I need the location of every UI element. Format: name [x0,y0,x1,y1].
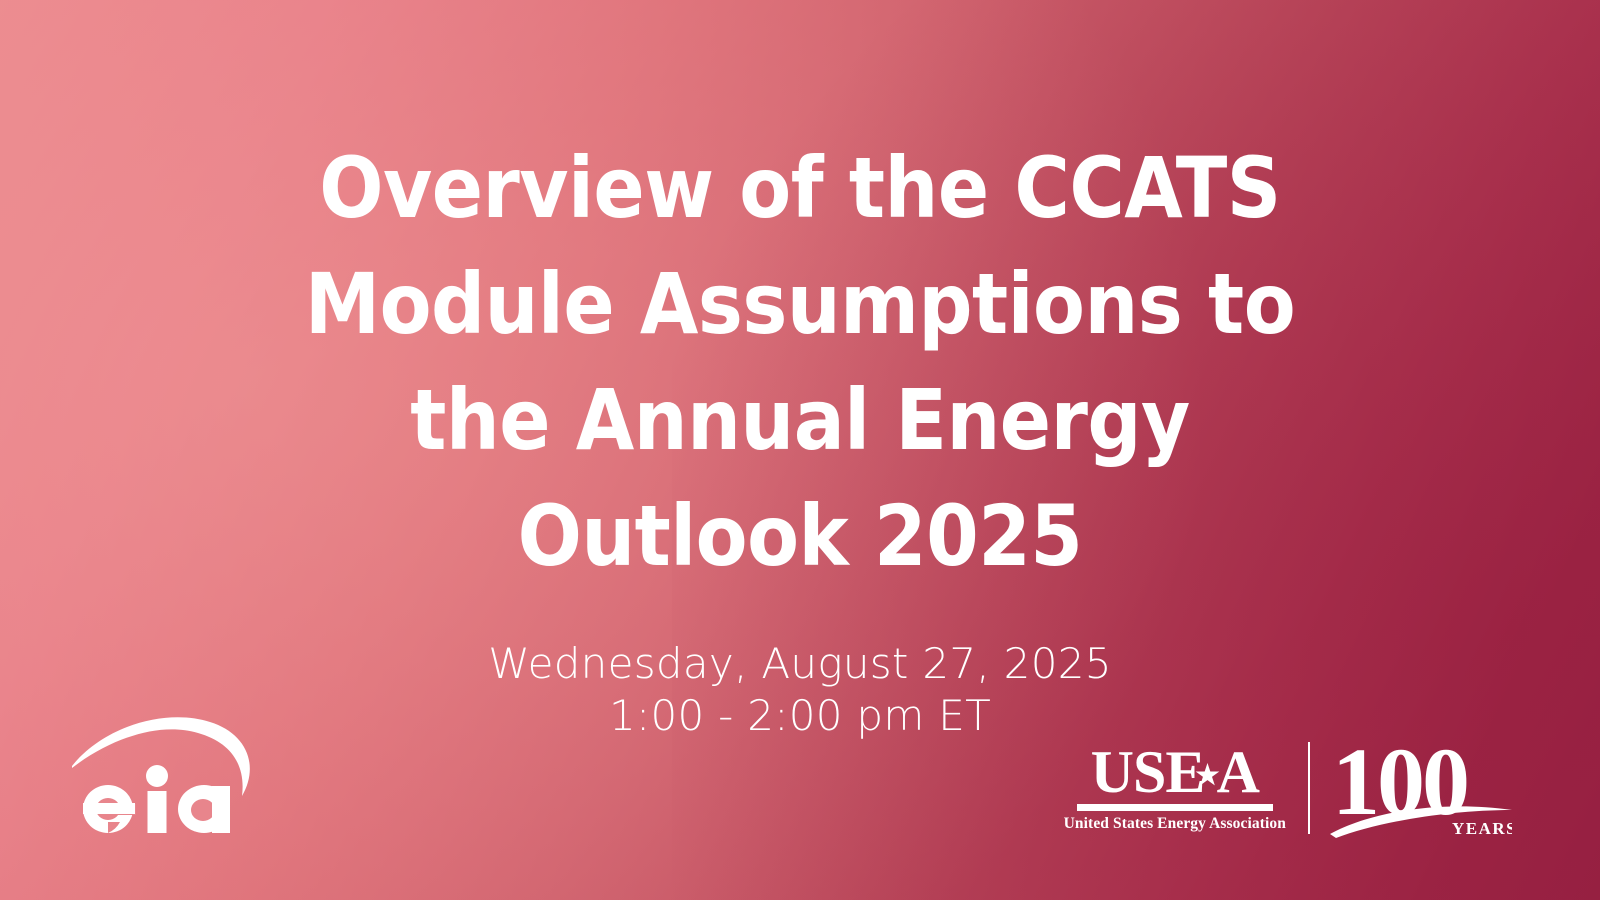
usea-letter-u: U [1091,744,1133,801]
event-date: Wednesday, August 27, 2025 [0,638,1600,690]
usea-wordmark: U S E ★ A [1091,744,1259,801]
title-line-4: Outlook 2025 [90,478,1510,594]
usea-wordmark-block: U S E ★ A United States Energy Associati… [1064,744,1308,833]
eia-logo [70,710,270,845]
presentation-title-slide: Overview of the CCATS Module Assumptions… [0,0,1600,900]
eia-wordmark [83,765,230,833]
title-line-3: the Annual Energy [90,362,1510,478]
usea-logo: U S E ★ A United States Energy Associati… [1064,738,1512,838]
page-title: Overview of the CCATS Module Assumptions… [0,130,1600,594]
usea-divider [1308,742,1310,834]
centennial-label: YEARS [1452,819,1512,838]
title-line-1: Overview of the CCATS [90,130,1510,246]
star-icon: ★ [1195,762,1218,789]
usea-underline-rule [1077,804,1273,811]
title-line-2: Module Assumptions to [90,246,1510,362]
usea-tagline: United States Energy Association [1064,815,1286,833]
usea-centennial-mark: 100 YEARS [1330,738,1512,838]
usea-letter-s: S [1133,744,1165,801]
usea-letter-a: A [1217,744,1259,801]
